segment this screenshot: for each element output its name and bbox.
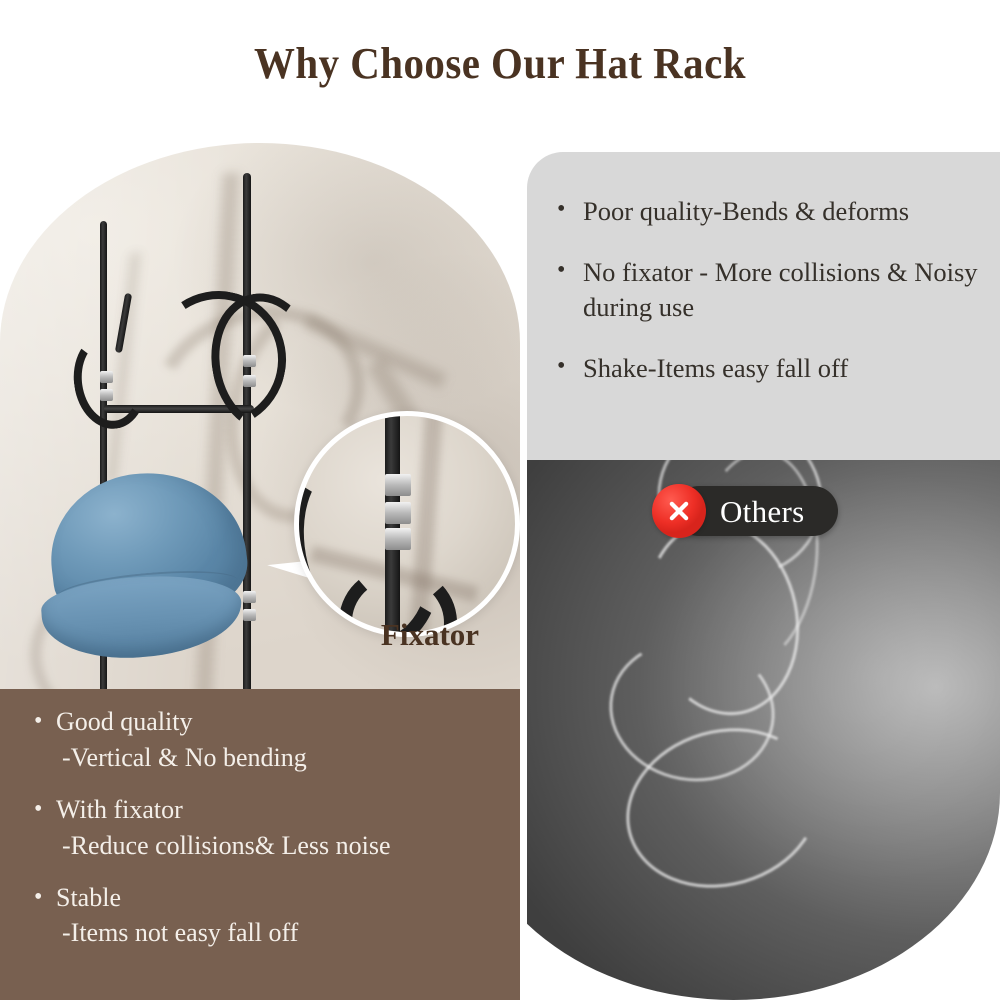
- ours-bullet-head-text: Good quality: [56, 707, 193, 738]
- others-bullet-text: No fixator - More collisions & Noisy dur…: [583, 255, 990, 325]
- magnified-fixator-collar: [385, 528, 411, 550]
- ours-bullet-sub: -Reduce collisions& Less noise: [34, 830, 506, 861]
- bullet-icon: •: [34, 707, 56, 738]
- ours-bullet-head-text: With fixator: [56, 795, 183, 826]
- fixator-magnifier-circle: [294, 411, 520, 637]
- others-product-photo: [527, 460, 1000, 1000]
- page-title: Why Choose Our Hat Rack: [35, 38, 965, 89]
- ours-benefits-list: • Good quality -Vertical & No bending • …: [34, 707, 506, 971]
- list-item: • Good quality -Vertical & No bending: [34, 707, 506, 773]
- list-item: • Poor quality-Bends & deforms: [557, 194, 990, 229]
- fixator-collar: [243, 375, 256, 387]
- fixator-collar: [100, 389, 113, 401]
- ours-product-photo: Fixator Ours: [0, 143, 520, 689]
- bullet-icon: •: [34, 795, 56, 826]
- list-item: • Stable -Items not easy fall off: [34, 883, 506, 949]
- others-drawbacks-list: • Poor quality-Bends & deforms • No fixa…: [557, 194, 990, 412]
- ours-bullet-head-text: Stable: [56, 883, 121, 914]
- ours-bullet-head: • Good quality: [34, 707, 506, 738]
- x-circle-icon: [652, 484, 706, 538]
- bullet-icon: •: [557, 194, 583, 229]
- bullet-icon: •: [557, 351, 583, 386]
- list-item: • With fixator -Reduce collisions& Less …: [34, 795, 506, 861]
- ours-bullet-head: • With fixator: [34, 795, 506, 826]
- ours-bullet-sub: -Vertical & No bending: [34, 742, 506, 773]
- photo-vignette: [527, 460, 1000, 1000]
- magnified-fixator-collar: [385, 474, 411, 496]
- others-bullet-text: Shake-Items easy fall off: [583, 351, 848, 386]
- ours-bullet-head: • Stable: [34, 883, 506, 914]
- others-drawbacks-panel: • Poor quality-Bends & deforms • No fixa…: [527, 152, 1000, 460]
- ours-bullet-sub: -Items not easy fall off: [34, 917, 506, 948]
- magnified-fixator-collar: [385, 502, 411, 524]
- others-badge: Others: [652, 484, 838, 538]
- bullet-icon: •: [557, 255, 583, 325]
- ours-benefits-panel: • Good quality -Vertical & No bending • …: [0, 689, 520, 1000]
- list-item: • Shake-Items easy fall off: [557, 351, 990, 386]
- fixator-collar: [243, 355, 256, 367]
- fixator-collar: [100, 371, 113, 383]
- infographic-canvas: Why Choose Our Hat Rack: [0, 0, 1000, 1000]
- bullet-icon: •: [34, 883, 56, 914]
- others-photo-inner: [527, 460, 1000, 1000]
- blue-cap: [42, 473, 257, 658]
- fixator-callout-label: Fixator: [330, 617, 520, 653]
- others-bullet-text: Poor quality-Bends & deforms: [583, 194, 909, 229]
- list-item: • No fixator - More collisions & Noisy d…: [557, 255, 990, 325]
